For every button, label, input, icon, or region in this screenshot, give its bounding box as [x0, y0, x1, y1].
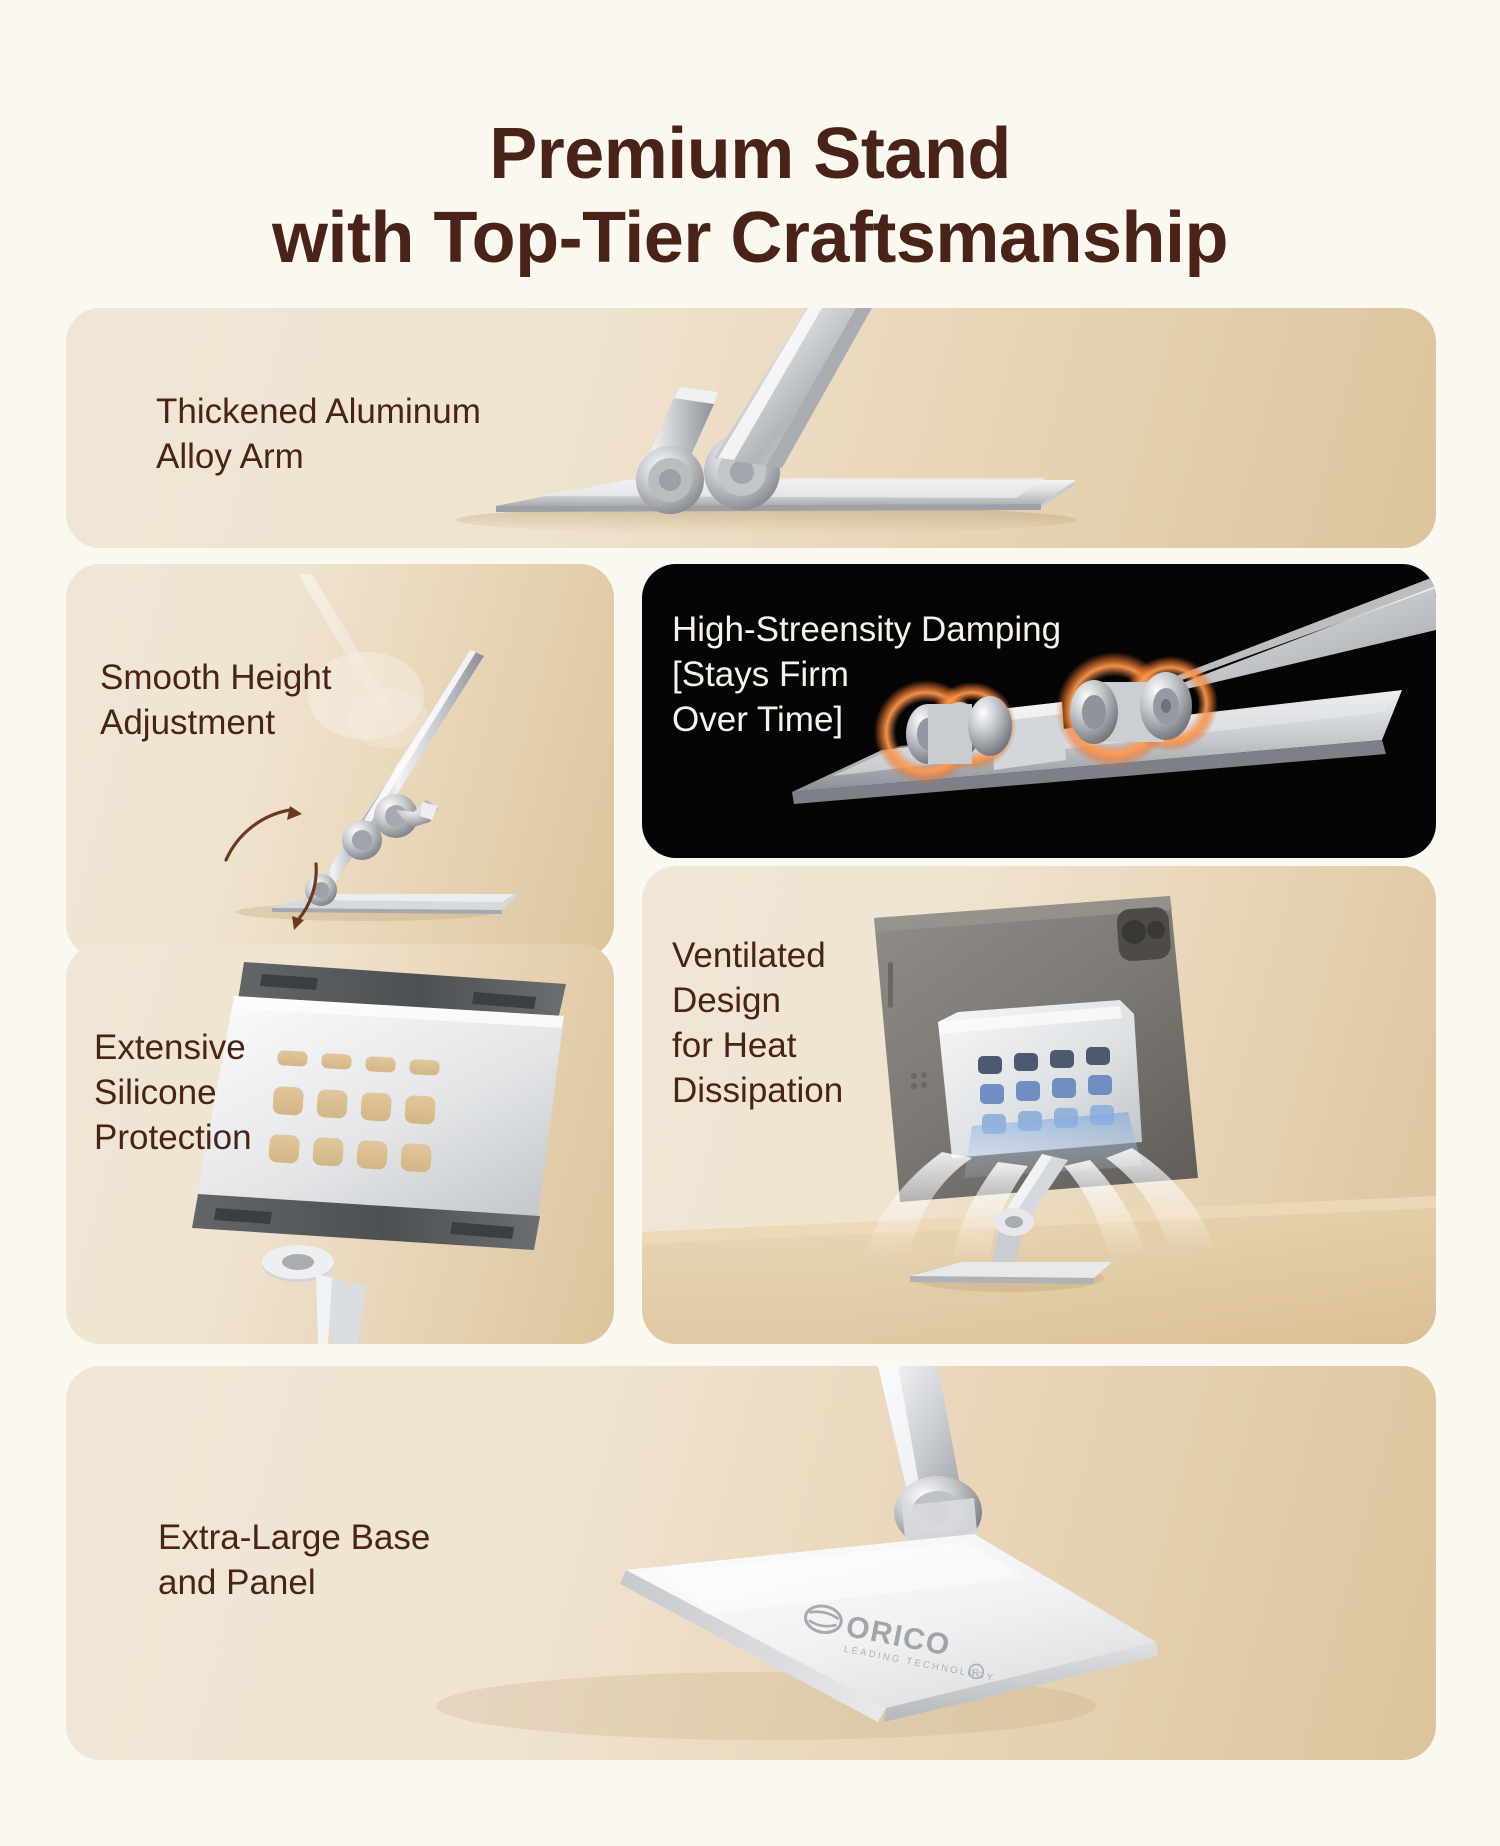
feature-card-ventilated-design: Ventilated Design for Heat Dissipation: [642, 866, 1436, 1344]
feature-label-extensive-silicone-protection: Extensive Silicone Protection: [94, 1026, 252, 1160]
feature-label-ventilated-design: Ventilated Design for Heat Dissipation: [672, 934, 843, 1113]
brand-name-text: ORICO: [843, 1611, 953, 1664]
feature-label-extra-large-base: Extra-Large Base and Panel: [158, 1516, 430, 1606]
feature-card-smooth-height-adjustment: Smooth Height Adjustment: [66, 564, 614, 958]
feature-card-thickened-aluminum-alloy-arm: Thickened Aluminum Alloy Arm: [66, 308, 1436, 548]
svg-text:R: R: [971, 1667, 980, 1678]
feature-card-extensive-silicone-protection: Extensive Silicone Protection: [66, 944, 614, 1344]
feature-label-high-streensity-damping: High-Streensity Damping [Stays Firm Over…: [672, 608, 1061, 742]
feature-label-smooth-height-adjustment: Smooth Height Adjustment: [100, 656, 332, 746]
page-title-line-1: Premium Stand: [0, 112, 1500, 196]
feature-label-thickened-aluminum-alloy-arm: Thickened Aluminum Alloy Arm: [156, 390, 481, 480]
feature-card-high-streensity-damping: High-Streensity Damping [Stays Firm Over…: [642, 564, 1436, 858]
page-title-line-2: with Top-Tier Craftsmanship: [0, 196, 1500, 280]
product-art-height-adjustment: [66, 564, 614, 958]
page-title: Premium Stand with Top-Tier Craftsmanshi…: [0, 0, 1500, 280]
feature-card-grid: Thickened Aluminum Alloy Arm: [0, 300, 1500, 1760]
brand-tagline-text: LEADING TECHNOLOGY: [843, 1644, 996, 1684]
feature-card-extra-large-base: ORICO LEADING TECHNOLOGY R Extra-Large B…: [66, 1366, 1436, 1760]
